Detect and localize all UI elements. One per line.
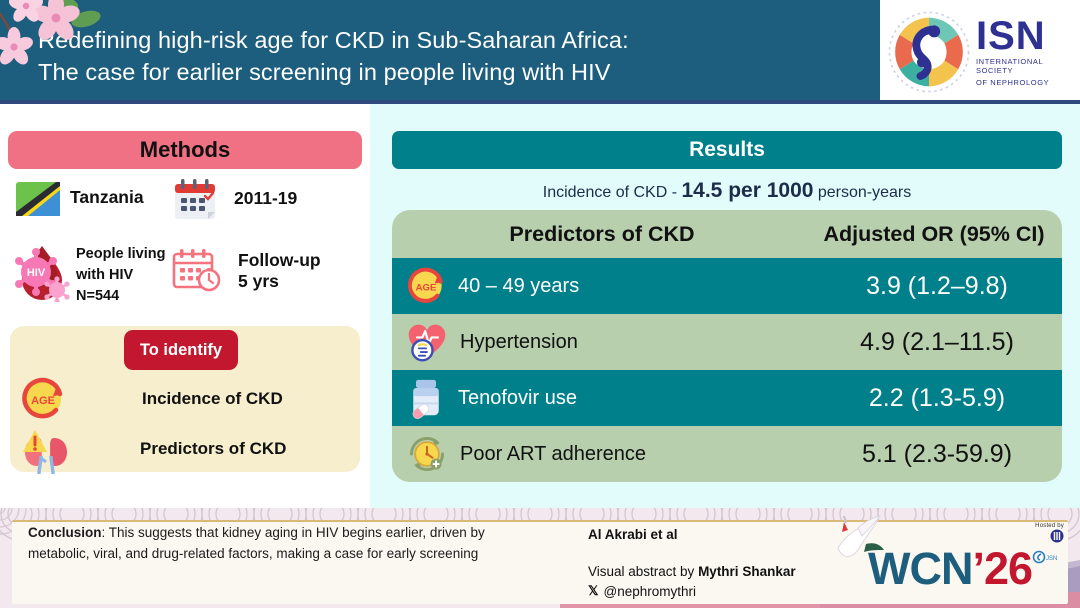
predictor-label: Hypertension xyxy=(460,331,578,354)
title-line-2: The case for earlier screening in people… xyxy=(38,56,858,88)
table-row: AGE 40 – 49 years 3.9 (1.2–9.8) xyxy=(392,258,1062,314)
odds-ratio-value: 3.9 (1.2–9.8) xyxy=(866,272,1008,300)
odds-ratio-value: 5.1 (2.3-59.9) xyxy=(862,440,1012,468)
handle-text: @nephromythri xyxy=(603,584,696,599)
table-row: Poor ART adherence 5.1 (2.3-59.9) xyxy=(392,426,1062,482)
isn-acronym: ISN xyxy=(976,17,1080,55)
column-header-odds-ratio: Adjusted OR (95% CI) xyxy=(812,222,1062,247)
age-circle-icon: AGE xyxy=(20,376,66,422)
conclusion-label: Conclusion xyxy=(28,525,102,540)
identify-label-predictors: Predictors of CKD xyxy=(140,439,286,459)
to-identify-label: To identify xyxy=(140,341,222,360)
table-row: Hypertension 4.9 (2.1–11.5) xyxy=(392,314,1062,370)
predictor-label: Poor ART adherence xyxy=(460,443,646,466)
incidence-prefix: Incidence of CKD - xyxy=(543,184,682,201)
predictor-cell: Poor ART adherence xyxy=(392,433,812,475)
hosted-by-block: Hosted by JSN xyxy=(1032,523,1064,569)
to-identify-badge: To identify xyxy=(124,330,238,370)
odds-ratio-cell: 5.1 (2.3-59.9) xyxy=(812,440,1062,469)
isn-logo: ISN INTERNATIONAL SOCIETY OF NEPHROLOGY xyxy=(880,0,1080,104)
wcn-text: WCN xyxy=(868,543,972,594)
methods-banner: Methods xyxy=(8,131,362,169)
calendar-clock-icon xyxy=(172,246,222,292)
methods-item-population: HIV People living with HIV N=544 xyxy=(12,240,165,307)
x-twitter-icon: 𝕏 xyxy=(588,583,598,599)
jsn-small-icon: JSN xyxy=(1032,550,1064,564)
methods-item-country: Tanzania xyxy=(16,182,144,216)
visual-abstract-poster: Redefining high-risk age for CKD in Sub-… xyxy=(0,0,1080,608)
svg-text:HIV: HIV xyxy=(27,267,46,279)
identify-item-incidence: AGE Incidence of CKD xyxy=(20,376,283,422)
wcn-logo: WCN’26 xyxy=(868,546,1032,591)
odds-ratio-cell: 2.2 (1.3-5.9) xyxy=(812,384,1062,413)
poster-header: Redefining high-risk age for CKD in Sub-… xyxy=(0,0,1080,104)
methods-banner-label: Methods xyxy=(140,137,230,163)
table-row: Tenofovir use 2.2 (1.3-5.9) xyxy=(392,370,1062,426)
methods-item-period: 2011-19 xyxy=(172,176,297,222)
results-banner-label: Results xyxy=(689,138,765,162)
predictor-label: 40 – 49 years xyxy=(458,275,579,298)
population-line-2: with HIV xyxy=(76,265,165,286)
odds-ratio-value: 4.9 (2.1–11.5) xyxy=(860,328,1014,356)
incidence-value: 14.5 per 1000 xyxy=(681,179,813,202)
age-circle-icon: AGE xyxy=(406,266,446,306)
svg-text:AGE: AGE xyxy=(416,282,437,293)
tanzania-flag-icon xyxy=(16,182,60,216)
kidney-warning-icon xyxy=(18,424,70,474)
predictor-cell: Tenofovir use xyxy=(392,376,812,420)
visual-abstract-credit: Visual abstract by Mythri Shankar xyxy=(588,564,796,579)
population-sample-size: N=544 xyxy=(76,286,165,307)
incidence-statement: Incidence of CKD - 14.5 per 1000 person-… xyxy=(392,179,1062,203)
predictor-cell: AGE 40 – 49 years xyxy=(392,266,812,306)
odds-ratio-value: 2.2 (1.3-5.9) xyxy=(869,384,1005,412)
followup-line-2: 5 yrs xyxy=(238,271,321,292)
wcn-year: ’26 xyxy=(972,543,1032,594)
column-header-predictor: Predictors of CKD xyxy=(392,222,812,247)
methods-panel: Methods Tanzania xyxy=(0,104,370,508)
predictor-label: Tenofovir use xyxy=(458,387,577,410)
svg-text:JSN: JSN xyxy=(1046,556,1057,562)
isn-emblem-icon xyxy=(886,9,972,95)
isn-subtitle-2: OF NEPHROLOGY xyxy=(976,78,1080,87)
conclusion-text: Conclusion: This suggests that kidney ag… xyxy=(28,522,528,564)
svg-text:AGE: AGE xyxy=(31,395,55,407)
odds-ratio-cell: 4.9 (2.1–11.5) xyxy=(812,328,1062,357)
isn-small-icon xyxy=(1050,529,1064,543)
identify-label-incidence: Incidence of CKD xyxy=(142,389,283,409)
methods-item-followup: Follow-up 5 yrs xyxy=(172,246,321,292)
credit-author: Mythri Shankar xyxy=(698,564,796,579)
results-table: Predictors of CKD Adjusted OR (95% CI) A… xyxy=(392,210,1062,482)
calendar-icon xyxy=(172,176,218,222)
identify-item-predictors: Predictors of CKD xyxy=(18,424,286,474)
credit-prefix: Visual abstract by xyxy=(588,564,698,579)
authors-line: Al Akrabi et al xyxy=(588,527,678,542)
incidence-suffix: person-years xyxy=(813,184,911,201)
predictor-cell: Hypertension xyxy=(392,321,812,363)
results-panel: Results Incidence of CKD - 14.5 per 1000… xyxy=(370,104,1080,508)
followup-line-1: Follow-up xyxy=(238,250,321,271)
heart-pulse-icon xyxy=(406,321,448,363)
country-label: Tanzania xyxy=(70,187,144,208)
title-line-1: Redefining high-risk age for CKD in Sub-… xyxy=(38,27,629,53)
odds-ratio-cell: 3.9 (1.2–9.8) xyxy=(812,272,1062,301)
results-banner: Results xyxy=(392,131,1062,169)
hiv-blood-drop-icon: HIV xyxy=(12,240,70,302)
clock-arrows-icon xyxy=(406,433,448,475)
period-label: 2011-19 xyxy=(234,188,297,209)
population-line-1: People living xyxy=(76,244,165,265)
page-title: Redefining high-risk age for CKD in Sub-… xyxy=(38,24,858,88)
pill-bottle-icon xyxy=(406,376,446,420)
social-handle[interactable]: 𝕏 @nephromythri xyxy=(588,583,696,599)
isn-subtitle-1: INTERNATIONAL SOCIETY xyxy=(976,57,1080,76)
table-header-row: Predictors of CKD Adjusted OR (95% CI) xyxy=(392,210,1062,258)
